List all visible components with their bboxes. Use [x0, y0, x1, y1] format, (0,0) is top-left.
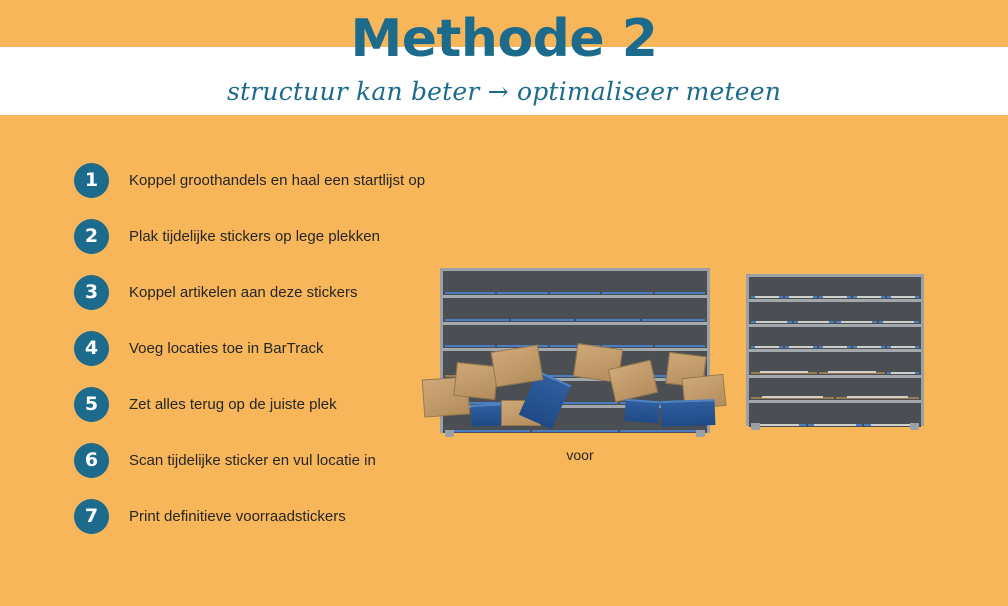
storage-bin	[879, 321, 920, 323]
bin-label	[841, 321, 872, 323]
bin-label	[789, 346, 813, 348]
cardboard-box	[751, 397, 834, 399]
cardboard-box	[836, 397, 919, 399]
step-label: Print definitieve voorraadstickers	[129, 507, 346, 527]
step-number-badge: 5	[74, 387, 109, 422]
storage-bin	[853, 296, 885, 298]
bin-label	[823, 346, 847, 348]
bin-label	[891, 346, 915, 348]
shelf-image-after	[746, 274, 924, 426]
page-title: Methode 2	[0, 8, 1008, 70]
bin-label	[798, 321, 829, 323]
bin-label	[891, 296, 915, 298]
step-label: Plak tijdelijke stickers op lege plekken	[129, 227, 380, 247]
list-item[interactable]: 1 Koppel groothandels en haal een startl…	[74, 163, 494, 219]
storage-bin	[887, 346, 919, 348]
bin-label	[857, 296, 881, 298]
bin-label	[857, 346, 881, 348]
storage-bin	[751, 296, 783, 298]
storage-bin	[819, 296, 851, 298]
step-number-badge: 4	[74, 331, 109, 366]
storage-bin	[853, 346, 885, 348]
shelf-row	[749, 327, 921, 352]
list-item[interactable]: 7 Print definitieve voorraadstickers	[74, 499, 494, 555]
step-label: Zet alles terug op de juiste plek	[129, 395, 337, 415]
bin-label	[828, 371, 877, 373]
step-label: Voeg locaties toe in BarTrack	[129, 339, 324, 359]
bin-label	[891, 372, 915, 374]
shelf-row	[749, 302, 921, 327]
bin-label	[760, 371, 809, 373]
cardboard-box	[751, 372, 817, 374]
storage-bin	[751, 346, 783, 348]
photo-comparison: voor	[410, 268, 970, 468]
clutter-group	[415, 268, 735, 443]
storage-bin	[785, 346, 817, 348]
storage-bin	[751, 321, 792, 323]
storage-bin	[624, 399, 659, 423]
bin-label	[755, 296, 779, 298]
step-label: Koppel artikelen aan deze stickers	[129, 283, 357, 303]
storage-bin	[661, 399, 716, 427]
step-label: Koppel groothandels en haal een startlij…	[129, 171, 425, 191]
step-number-badge: 2	[74, 219, 109, 254]
storage-bin	[794, 321, 835, 323]
cardboard-box	[819, 372, 885, 374]
step-number-badge: 7	[74, 499, 109, 534]
bin-label	[756, 321, 787, 323]
storage-bin	[836, 321, 877, 323]
shelf-row	[749, 352, 921, 378]
bin-label	[883, 321, 914, 323]
photo-caption-before: voor	[420, 447, 740, 463]
step-number-badge: 1	[74, 163, 109, 198]
photo-after: na	[740, 274, 930, 426]
bin-label	[789, 296, 813, 298]
shelf-legs	[751, 423, 919, 430]
step-number-badge: 6	[74, 443, 109, 478]
photo-before: voor	[415, 268, 735, 433]
storage-bin	[785, 296, 817, 298]
storage-bin	[887, 372, 919, 374]
bin-label	[823, 296, 847, 298]
shelf-row	[749, 378, 921, 403]
storage-bin	[887, 296, 919, 298]
cardboard-box	[490, 344, 543, 387]
shelf-row	[749, 277, 921, 302]
cardboard-box	[453, 362, 498, 400]
storage-bin	[819, 346, 851, 348]
bin-label	[847, 396, 909, 398]
step-label: Scan tijdelijke sticker en vul locatie i…	[129, 451, 376, 471]
page-subtitle: structuur kan beter → optimaliseer metee…	[0, 76, 1008, 108]
bin-label	[762, 396, 824, 398]
bin-label	[755, 346, 779, 348]
step-number-badge: 3	[74, 275, 109, 310]
list-item[interactable]: 2 Plak tijdelijke stickers op lege plekk…	[74, 219, 494, 275]
